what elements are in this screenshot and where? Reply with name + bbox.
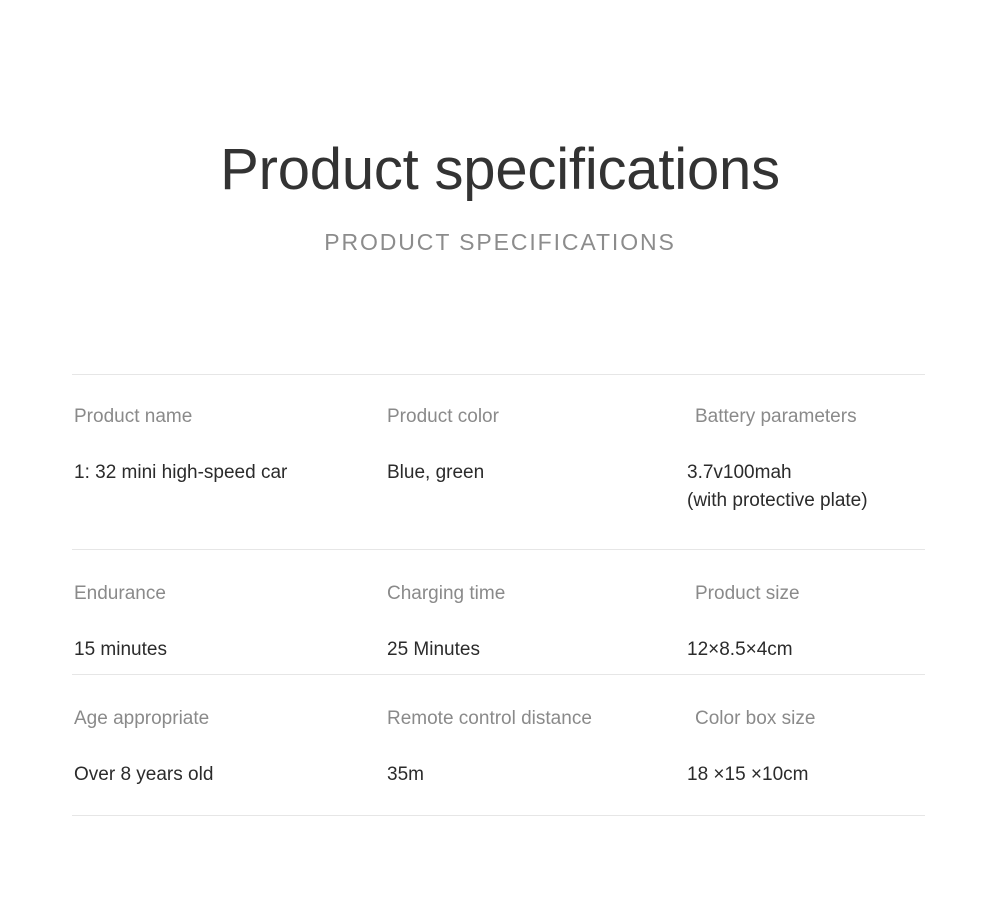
spec-label: Color box size xyxy=(687,707,927,731)
page-title: Product specifications xyxy=(0,138,1000,203)
spec-cell: Product size 12×8.5×4cm xyxy=(687,582,927,664)
spec-label: Remote control distance xyxy=(387,707,682,731)
product-specifications-page: Product specifications PRODUCT SPECIFICA… xyxy=(0,0,1000,903)
spec-label: Product color xyxy=(387,405,682,429)
specifications-table: Product name 1: 32 mini high-speed car P… xyxy=(72,374,925,816)
spec-value-line: (with protective plate) xyxy=(687,487,927,516)
spec-label: Charging time xyxy=(387,582,682,606)
page-subtitle: PRODUCT SPECIFICATIONS xyxy=(0,229,1000,257)
spec-value-line: 12×8.5×4cm xyxy=(687,636,927,665)
spec-value: 1: 32 mini high-speed car xyxy=(74,459,384,488)
spec-cell: Battery parameters 3.7v100mah (with prot… xyxy=(687,405,927,516)
spec-value-line: 3.7v100mah xyxy=(687,459,927,488)
spec-value-line: 1: 32 mini high-speed car xyxy=(74,459,384,488)
spec-value: 3.7v100mah (with protective plate) xyxy=(687,459,927,516)
spec-cell: Age appropriate Over 8 years old xyxy=(74,707,384,789)
spec-label: Battery parameters xyxy=(687,405,927,429)
table-row: Product name 1: 32 mini high-speed car P… xyxy=(72,375,925,549)
spec-value: 15 minutes xyxy=(74,636,384,665)
spec-cell: Endurance 15 minutes xyxy=(74,582,384,664)
spec-value: 18 ×15 ×10cm xyxy=(687,761,927,790)
spec-value-line: Over 8 years old xyxy=(74,761,384,790)
table-divider-bottom xyxy=(72,815,925,816)
spec-cell: Product color Blue, green xyxy=(387,405,682,487)
spec-label: Product size xyxy=(687,582,927,606)
spec-cell: Color box size 18 ×15 ×10cm xyxy=(687,707,927,789)
page-header: Product specifications PRODUCT SPECIFICA… xyxy=(0,138,1000,257)
spec-label: Product name xyxy=(74,405,384,429)
spec-label: Age appropriate xyxy=(74,707,384,731)
spec-value-line: Blue, green xyxy=(387,459,682,488)
spec-cell: Charging time 25 Minutes xyxy=(387,582,682,664)
spec-label: Endurance xyxy=(74,582,384,606)
spec-value-line: 25 Minutes xyxy=(387,636,682,665)
spec-value-line: 15 minutes xyxy=(74,636,384,665)
spec-value: Blue, green xyxy=(387,459,682,488)
table-row: Endurance 15 minutes Charging time 25 Mi… xyxy=(72,550,925,674)
table-row: Age appropriate Over 8 years old Remote … xyxy=(72,675,925,815)
spec-value: Over 8 years old xyxy=(74,761,384,790)
spec-value-line: 35m xyxy=(387,761,682,790)
spec-value: 35m xyxy=(387,761,682,790)
spec-value-line: 18 ×15 ×10cm xyxy=(687,761,927,790)
spec-cell: Remote control distance 35m xyxy=(387,707,682,789)
spec-value: 25 Minutes xyxy=(387,636,682,665)
spec-cell: Product name 1: 32 mini high-speed car xyxy=(74,405,384,487)
spec-value: 12×8.5×4cm xyxy=(687,636,927,665)
